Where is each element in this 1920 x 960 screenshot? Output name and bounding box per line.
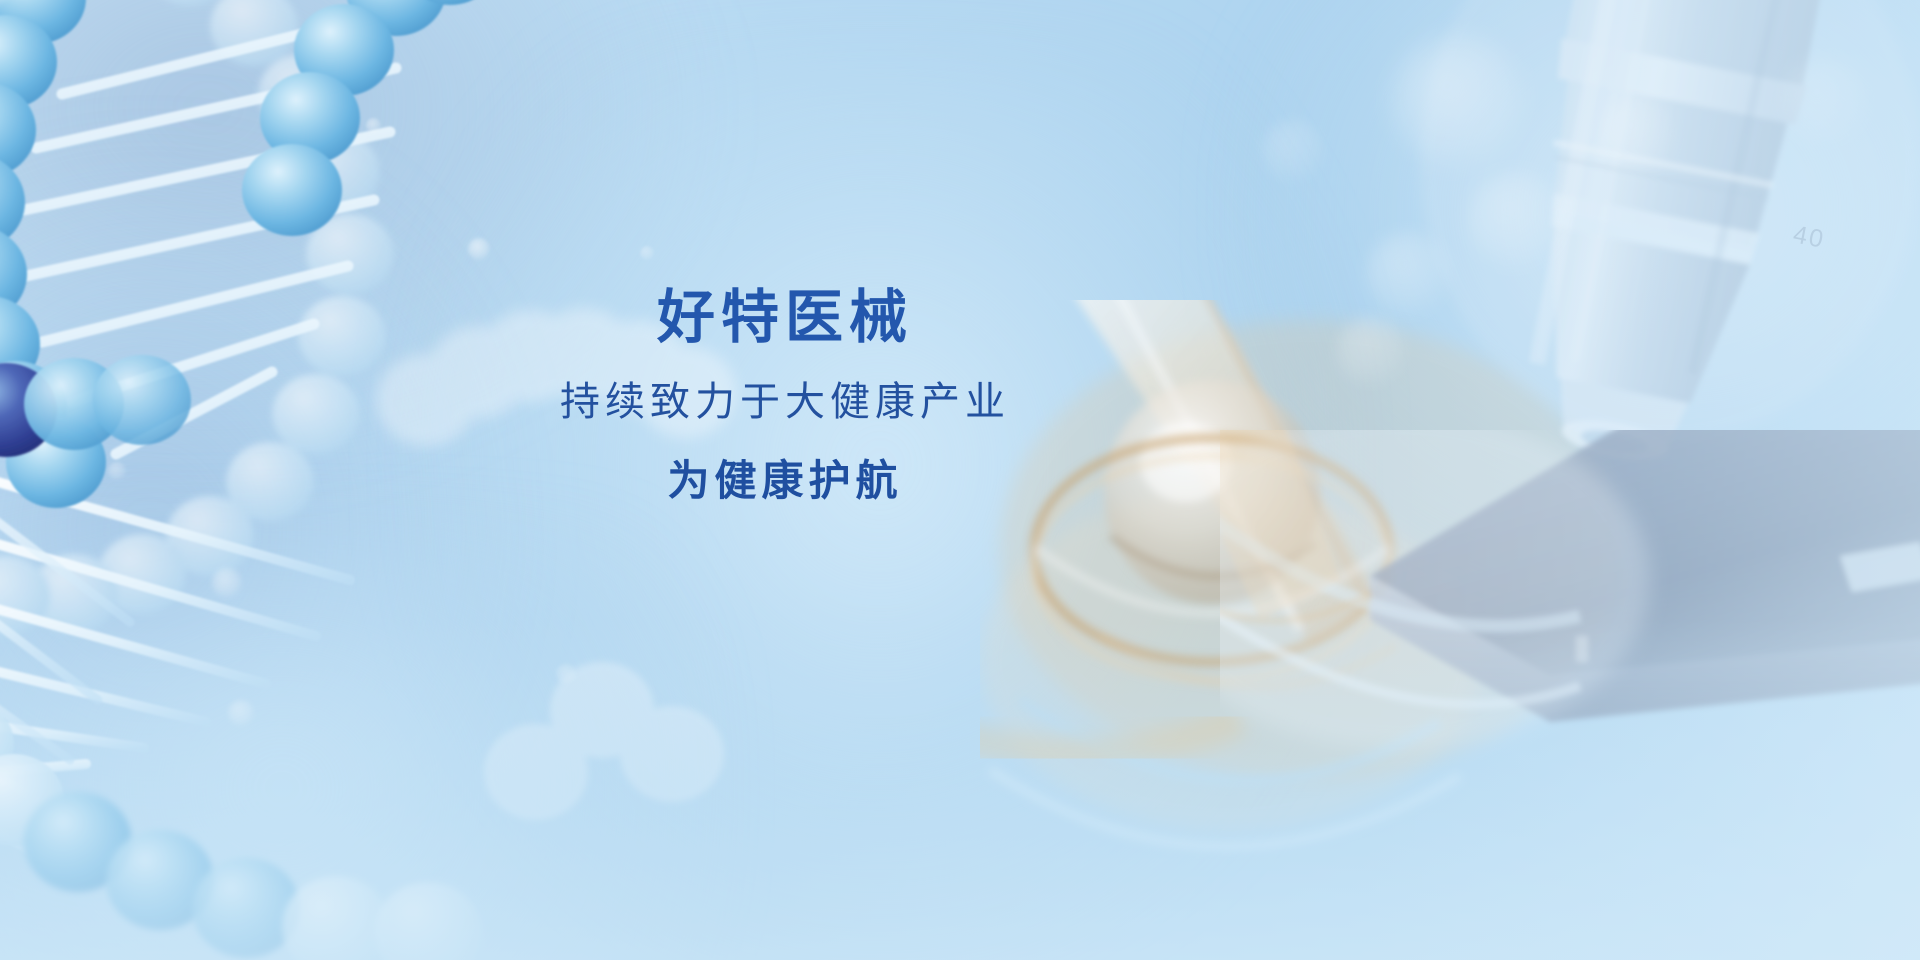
hero-subtitle: 持续致力于大健康产业	[0, 377, 1570, 427]
microscope-magnification-label: 40	[1791, 220, 1828, 254]
bottom-fade-veil	[0, 620, 1920, 960]
bokeh-light-circle	[1262, 120, 1324, 182]
bokeh-light-circle	[1780, 58, 1868, 146]
bokeh-light-circle	[1392, 36, 1524, 168]
bokeh-light-circle	[1468, 172, 1564, 268]
hero-tagline: 为健康护航	[0, 455, 1570, 508]
bokeh-light-circle	[212, 568, 242, 598]
hero-banner: 40	[0, 0, 1920, 960]
bokeh-light-circle	[640, 246, 654, 260]
bokeh-light-circle	[556, 664, 576, 684]
bokeh-light-circle	[366, 118, 381, 133]
background-wash-bottom-left	[0, 540, 700, 960]
hero-copy-block: 好特医械 持续致力于大健康产业 为健康护航	[0, 282, 1570, 507]
background-wash-center	[430, 60, 1330, 960]
bokeh-light-circle	[468, 238, 490, 260]
page-title: 好特医械	[0, 282, 1570, 355]
background-wash-left-mid	[0, 150, 500, 910]
bokeh-light-circle	[1598, 96, 1676, 174]
bokeh-light-circle	[228, 700, 254, 726]
